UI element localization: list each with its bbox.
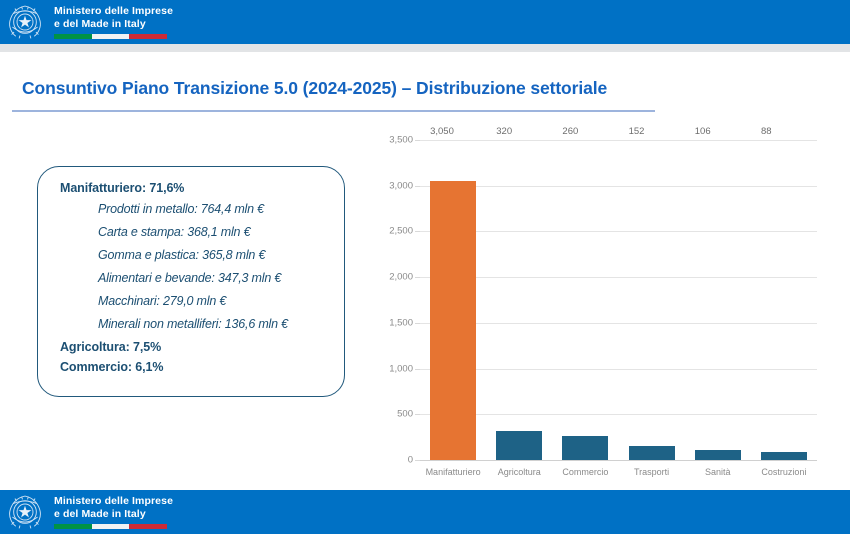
chart-y-tick-label: 3,500 [389, 135, 413, 146]
chart-x-label-commercio: Commercio [552, 467, 618, 477]
chart-bar-slot: 88 [751, 140, 817, 460]
chart-bar-slot: 320 [486, 140, 552, 460]
header-divider-strip [0, 44, 850, 52]
ministry-name-line-2: e del Made in Italy [54, 508, 173, 520]
info-entry-carta-e-stampa: Carta e stampa: 368,1 mln € [98, 225, 328, 239]
info-entry-minerali-non-metalliferi: Minerali non metalliferi: 136,6 mln € [98, 317, 328, 331]
chart-bar-manifatturiero[interactable]: 3,050 [430, 181, 476, 460]
footer-brand-text: Ministero delle Imprese e del Made in It… [54, 495, 173, 529]
info-entry-macchinari: Macchinari: 279,0 mln € [98, 294, 328, 308]
chart-bar-slot: 3,050 [420, 140, 486, 460]
chart-y-tick-label: 2,500 [389, 226, 413, 237]
chart-bar-value-label: 260 [562, 126, 578, 137]
chart-bar-trasporti[interactable]: 152 [629, 446, 675, 460]
chart-bars: 3,05032026015210688 [420, 140, 817, 460]
chart-y-tick-label: 500 [397, 409, 413, 420]
chart-bar-agricoltura[interactable]: 320 [496, 431, 542, 460]
ministry-name-line-2: e del Made in Italy [54, 18, 173, 30]
chart-y-tick-label: 0 [408, 455, 413, 466]
chart-bar-slot: 152 [619, 140, 685, 460]
header-brand-text: Ministero delle Imprese e del Made in It… [54, 5, 173, 39]
italian-republic-emblem-icon [4, 491, 46, 533]
chart-y-tick-label: 1,500 [389, 317, 413, 328]
sector-breakdown-box: Manifatturiero: 71,6% Prodotti in metall… [37, 166, 345, 397]
chart-plot-area: 3,5003,0002,5002,0001,5001,0005000 3,050… [420, 140, 817, 460]
footer-brand-band: Ministero delle Imprese e del Made in It… [0, 490, 850, 534]
chart-bar-value-label: 106 [695, 126, 711, 137]
chart-x-label-agricoltura: Agricoltura [486, 467, 552, 477]
header-brand-band: Ministero delle Imprese e del Made in It… [0, 0, 850, 44]
chart-y-tick-label: 1,000 [389, 363, 413, 374]
chart-y-tick-mark [415, 460, 420, 461]
italian-republic-emblem-icon [4, 1, 46, 43]
info-entry-alimentari-e-bevande: Alimentari e bevande: 347,3 mln € [98, 271, 328, 285]
chart-x-label-sanit-: Sanità [685, 467, 751, 477]
chart-bar-commercio[interactable]: 260 [562, 436, 608, 460]
chart-bar-sanit-[interactable]: 106 [695, 450, 741, 460]
page-title: Consuntivo Piano Transizione 5.0 (2024-2… [22, 78, 607, 99]
chart-y-tick-label: 3,000 [389, 180, 413, 191]
info-entry-commercio: Commercio: 6,1% [60, 360, 328, 374]
info-entry-prodotti-in-metallo: Prodotti in metallo: 764,4 mln € [98, 202, 328, 216]
chart-x-axis-labels: ManifatturieroAgricolturaCommercioTraspo… [420, 467, 817, 477]
info-entry-manifatturiero: Manifatturiero: 71,6% [60, 181, 328, 195]
sector-bar-chart: 3,5003,0002,5002,0001,5001,0005000 3,050… [368, 130, 828, 475]
chart-bar-slot: 260 [552, 140, 618, 460]
chart-bar-costruzioni[interactable]: 88 [761, 452, 807, 460]
ministry-name-line-1: Ministero delle Imprese [54, 5, 173, 17]
chart-bar-value-label: 88 [761, 126, 772, 137]
chart-y-tick-label: 2,000 [389, 272, 413, 283]
ministry-name-line-1: Ministero delle Imprese [54, 495, 173, 507]
chart-x-label-costruzioni: Costruzioni [751, 467, 817, 477]
chart-bar-value-label: 320 [496, 126, 512, 137]
chart-bar-value-label: 3,050 [430, 126, 454, 137]
italian-tricolour-bar-icon [54, 524, 167, 529]
info-entry-agricoltura: Agricoltura: 7,5% [60, 340, 328, 354]
chart-gridline: 0 [420, 460, 817, 461]
chart-bar-value-label: 152 [629, 126, 645, 137]
chart-x-label-trasporti: Trasporti [619, 467, 685, 477]
chart-bar-slot: 106 [685, 140, 751, 460]
title-underline [12, 110, 655, 112]
info-entry-gomma-e-plastica: Gomma e plastica: 365,8 mln € [98, 248, 328, 262]
italian-tricolour-bar-icon [54, 34, 167, 39]
chart-x-label-manifatturiero: Manifatturiero [420, 467, 486, 477]
